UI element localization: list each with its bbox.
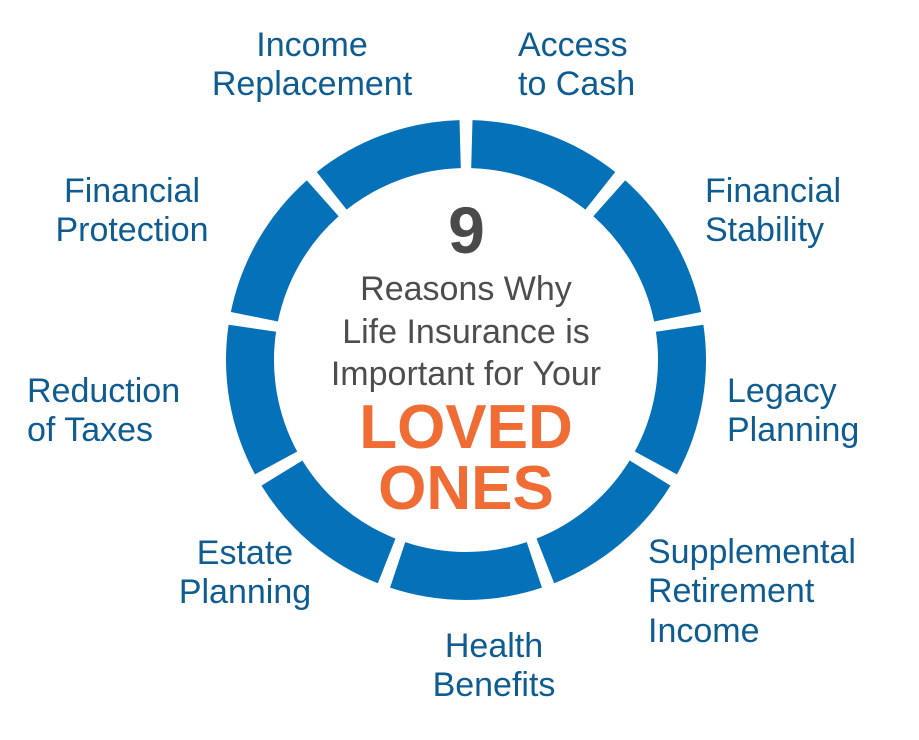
ring-label-line: to Cash — [518, 65, 738, 104]
ring-label-line: Retirement — [648, 572, 919, 611]
ring-label-health-benefits[interactable]: HealthBenefits — [378, 627, 610, 706]
ring-label-legacy-planning[interactable]: LegacyPlanning — [727, 372, 919, 451]
ring-label-line: Reduction — [27, 372, 237, 411]
ring-label-line: Access — [518, 26, 738, 65]
ring-segment[interactable] — [471, 120, 615, 210]
ring-label-line: Benefits — [378, 666, 610, 705]
ring-label-income-replacement[interactable]: IncomeReplacement — [188, 26, 436, 105]
ring-label-supplemental-retirement-income[interactable]: SupplementalRetirementIncome — [648, 533, 919, 651]
ring-label-line: Health — [378, 627, 610, 666]
ring-label-line: Legacy — [727, 372, 919, 411]
ring-label-line: Income — [648, 612, 919, 651]
ring-label-line: Financial — [22, 172, 242, 211]
ring-label-line: Financial — [705, 172, 919, 211]
ring-label-reduction-of-taxes[interactable]: Reductionof Taxes — [27, 372, 237, 451]
ring-label-line: of Taxes — [27, 411, 237, 450]
ring-label-line: Income — [188, 26, 436, 65]
ring-segment[interactable] — [593, 180, 701, 321]
ring-label-line: Protection — [22, 211, 242, 250]
ring-label-financial-stability[interactable]: FinancialStability — [705, 172, 919, 251]
ring-segment[interactable] — [390, 542, 542, 600]
ring-label-line: Estate — [145, 534, 345, 573]
ring-label-access-to-cash[interactable]: Accessto Cash — [518, 26, 738, 105]
ring-label-financial-protection[interactable]: FinancialProtection — [22, 172, 242, 251]
ring-segment[interactable] — [635, 325, 706, 475]
ring-label-line: Supplemental — [648, 533, 919, 572]
ring-label-line: Stability — [705, 211, 919, 250]
ring-label-line: Planning — [145, 573, 345, 612]
ring-label-line: Replacement — [188, 65, 436, 104]
ring-label-line: Planning — [727, 411, 919, 450]
ring-segment[interactable] — [317, 120, 461, 210]
ring-segment[interactable] — [231, 180, 339, 321]
ring-label-estate-planning[interactable]: EstatePlanning — [145, 534, 345, 613]
infographic-canvas: 9 Reasons WhyLife Insurance isImportant … — [0, 0, 919, 740]
